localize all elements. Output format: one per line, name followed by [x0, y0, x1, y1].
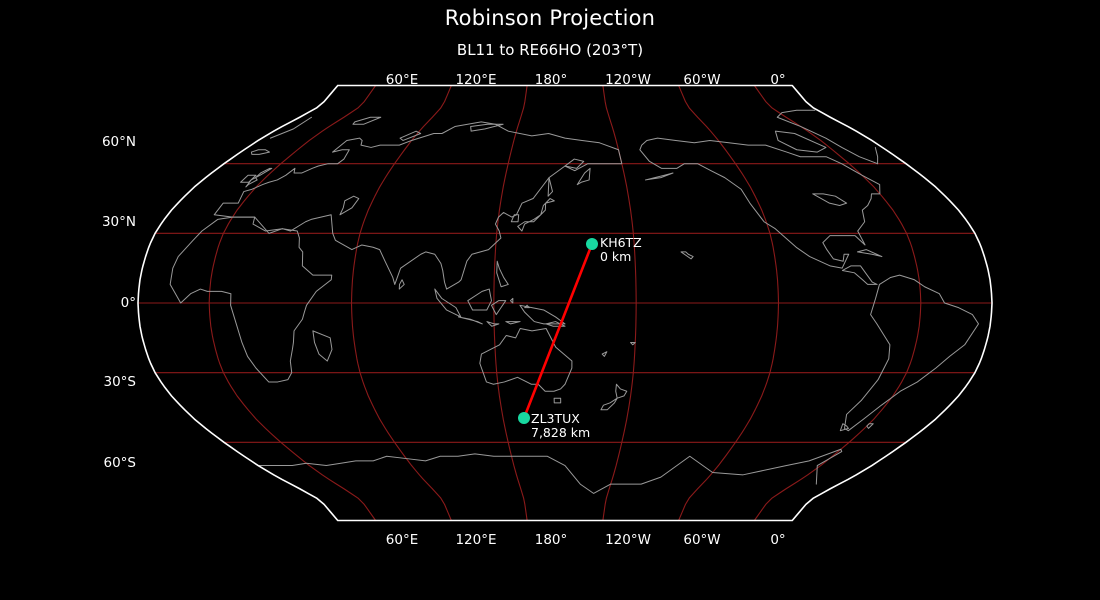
lon-tick-label-bottom: 60°E: [386, 532, 418, 548]
lon-tick-label-top: 180°: [535, 72, 568, 88]
station-marker[interactable]: [586, 238, 598, 250]
lon-tick-label-top: 0°: [770, 72, 785, 88]
lon-tick-label-bottom: 120°W: [605, 532, 651, 548]
lon-tick-label-top: 60°W: [683, 72, 720, 88]
lon-tick-label-bottom: 0°: [770, 532, 785, 548]
lon-tick-label-top: 120°W: [605, 72, 651, 88]
lat-tick-label: 0°: [121, 295, 136, 311]
world-map: [0, 0, 1100, 600]
station-callsign: ZL3TUX: [531, 411, 580, 426]
lon-tick-label-top: 60°E: [386, 72, 418, 88]
map-figure: Robinson Projection BL11 to RE66HO (203°…: [0, 0, 1100, 600]
station-marker[interactable]: [518, 412, 530, 424]
lon-tick-label-top: 120°E: [455, 72, 496, 88]
lon-tick-label-bottom: 120°E: [455, 532, 496, 548]
lat-tick-label: 30°S: [104, 374, 137, 390]
lat-tick-label: 60°N: [102, 134, 136, 150]
lon-tick-label-bottom: 60°W: [683, 532, 720, 548]
lat-tick-label: 60°S: [104, 455, 137, 471]
graticule-layer: [138, 86, 992, 521]
station-callsign: KH6TZ: [600, 235, 642, 250]
lon-tick-label-bottom: 180°: [535, 532, 568, 548]
station-distance: 0 km: [600, 249, 631, 264]
lat-tick-label: 30°N: [102, 214, 136, 230]
station-distance: 7,828 km: [531, 425, 590, 440]
